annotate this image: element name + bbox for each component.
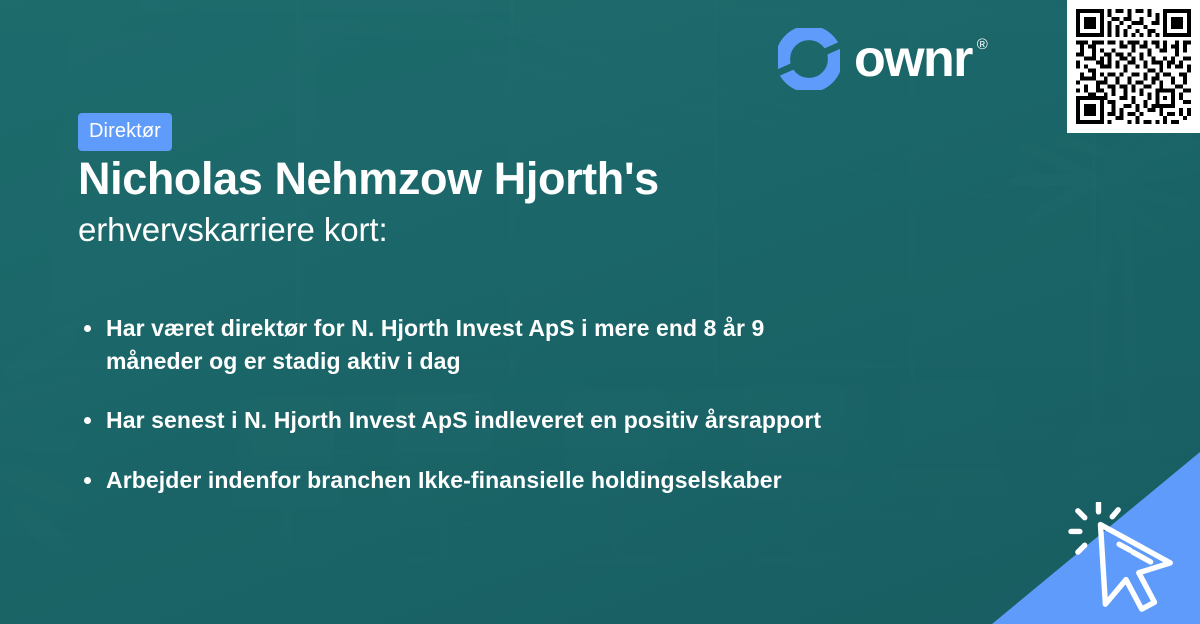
ownr-logo[interactable]: ownr® — [778, 28, 988, 90]
list-item: Har senest i N. Hjorth Invest ApS indlev… — [80, 404, 825, 437]
registered-trademark-icon: ® — [977, 37, 988, 52]
person-name: Nicholas Nehmzow Hjorth's — [78, 152, 1018, 205]
qr-code-icon — [1076, 9, 1191, 124]
qr-code-panel[interactable] — [1067, 0, 1200, 133]
career-card: ownr® Direktør Nicholas Nehmzow Hjorth's… — [0, 0, 1200, 624]
brand-name: ownr — [854, 30, 972, 88]
click-cursor-icon — [1068, 502, 1186, 614]
ownr-wordmark: ownr® — [854, 33, 988, 85]
list-item: Har været direktør for N. Hjorth Invest … — [80, 312, 825, 377]
headline-block: Nicholas Nehmzow Hjorth's erhvervskarrie… — [78, 152, 1018, 252]
ownr-circle-mark-icon — [778, 28, 840, 90]
list-item: Arbejder indenfor branchen Ikke-finansie… — [80, 464, 900, 497]
headline-subtitle: erhvervskarriere kort: — [78, 209, 1018, 252]
career-facts-list: Har været direktør for N. Hjorth Invest … — [80, 312, 940, 497]
role-badge: Direktør — [78, 113, 172, 151]
